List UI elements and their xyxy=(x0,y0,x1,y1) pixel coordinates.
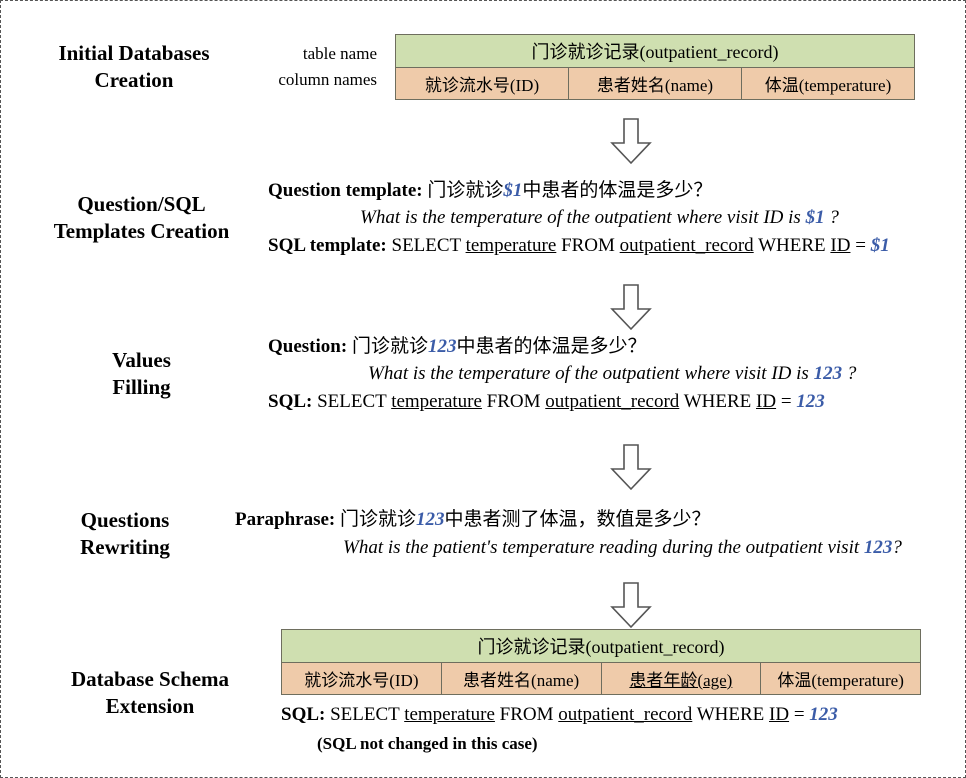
sql-where-keyword: WHERE xyxy=(684,391,752,412)
schema-table-extended: 门诊就诊记录(outpatient_record) 就诊流水号(ID) 患者姓名… xyxy=(281,629,921,695)
sql-label: SQL: xyxy=(268,391,312,412)
stage-values-filling: Values Filling Question: 门诊就诊123中患者的体温是多… xyxy=(19,329,949,419)
stage-label-question-sql-templates-creation: Question/SQL Templates Creation xyxy=(19,191,264,246)
stage-label-initial-databases-creation: Initial Databases Creation xyxy=(19,40,249,95)
stage-questions-rewriting: Questions Rewriting Paraphrase: 门诊就诊123中… xyxy=(19,499,949,569)
column-cell-name: 患者姓名(name) xyxy=(441,662,601,694)
sql-value: 123 xyxy=(796,391,825,412)
question-en-value: 123 xyxy=(814,363,843,384)
sql-key-ref: ID xyxy=(769,704,789,725)
column-cell-id: 就诊流水号(ID) xyxy=(396,68,569,100)
paraphrase-zh-post: 中患者测了体温，数值是多少？ xyxy=(445,509,711,530)
down-arrow-icon-4 xyxy=(609,581,653,634)
question-template-zh-pre: 门诊就诊 xyxy=(427,180,503,201)
column-cell-temperature: 体温(temperature) xyxy=(742,68,915,100)
question-template-label: Question template: xyxy=(268,180,423,201)
values-filling-text-block: Question: 门诊就诊123中患者的体温是多少？ What is the … xyxy=(268,333,856,416)
sql-where-keyword: WHERE xyxy=(697,704,765,725)
column-cell-temperature: 体温(temperature) xyxy=(761,662,921,694)
sql-select-keyword: SELECT xyxy=(317,391,386,412)
sql-column-ref: temperature xyxy=(391,391,482,412)
sql-line: SQL: SELECT temperature FROM outpatient_… xyxy=(281,701,921,729)
column-cell-age: 患者年龄(age) xyxy=(601,662,761,694)
sql-table-ref: outpatient_record xyxy=(558,704,692,725)
sql-column-ref: temperature xyxy=(404,704,495,725)
question-template-line: Question template: 门诊就诊$1中患者的体温是多少？ xyxy=(268,177,890,205)
stage-initial-databases-creation: Initial Databases Creation table name co… xyxy=(19,31,949,103)
sql-template-value: $1 xyxy=(871,235,890,256)
table-columns-row: 就诊流水号(ID) 患者姓名(name) 体温(temperature) xyxy=(396,68,915,100)
sql-from-keyword: FROM xyxy=(500,704,554,725)
table-name-cell: 门诊就诊记录(outpatient_record) xyxy=(282,629,921,662)
sql-column-ref: temperature xyxy=(466,235,557,256)
paraphrase-en-post: ? xyxy=(892,537,902,558)
sql-key-ref: ID xyxy=(756,391,776,412)
sql-template-label: SQL template: xyxy=(268,235,387,256)
question-template-en-post: ? xyxy=(825,207,839,228)
rewriting-text-block: Paraphrase: 门诊就诊123中患者测了体温，数值是多少？ What i… xyxy=(235,506,902,561)
sql-equals: = xyxy=(794,704,805,725)
sql-from-keyword: FROM xyxy=(487,391,541,412)
extension-sql-block: SQL: SELECT temperature FROM outpatient_… xyxy=(281,701,921,757)
question-label: Question: xyxy=(268,336,347,357)
question-en-post: ? xyxy=(842,363,856,384)
paraphrase-en-line: What is the patient's temperature readin… xyxy=(235,534,902,562)
paraphrase-en-pre: What is the patient's temperature readin… xyxy=(343,537,864,558)
question-zh-pre: 门诊就诊 xyxy=(352,336,428,357)
question-line: Question: 门诊就诊123中患者的体温是多少？ xyxy=(268,333,856,361)
pipeline-diagram: Initial Databases Creation table name co… xyxy=(0,0,966,778)
question-template-en-value: $1 xyxy=(806,207,825,228)
paraphrase-zh-pre: 门诊就诊 xyxy=(340,509,416,530)
sql-unchanged-note: (SQL not changed in this case) xyxy=(281,732,921,757)
column-cell-name: 患者姓名(name) xyxy=(569,68,742,100)
table-name-row: 门诊就诊记录(outpatient_record) xyxy=(396,35,915,68)
sql-equals: = xyxy=(855,235,866,256)
question-en-line: What is the temperature of the outpatien… xyxy=(268,360,856,388)
down-arrow-glyph-1 xyxy=(609,117,653,165)
templates-text-block: Question template: 门诊就诊$1中患者的体温是多少？ What… xyxy=(268,177,890,260)
question-template-en-line: What is the temperature of the outpatien… xyxy=(268,204,890,232)
sql-equals: = xyxy=(781,391,792,412)
sql-where-keyword: WHERE xyxy=(758,235,826,256)
stage-question-sql-templates-creation: Question/SQL Templates Creation Question… xyxy=(19,173,949,263)
table-name-cell: 门诊就诊记录(outpatient_record) xyxy=(396,35,915,68)
column-cell-id: 就诊流水号(ID) xyxy=(282,662,442,694)
sql-select-keyword: SELECT xyxy=(330,704,399,725)
down-arrow-glyph-3 xyxy=(609,443,653,491)
question-en-pre: What is the temperature of the outpatien… xyxy=(368,363,814,384)
sql-select-keyword: SELECT xyxy=(392,235,461,256)
paraphrase-en-value: 123 xyxy=(864,537,893,558)
schema-table-initial: 门诊就诊记录(outpatient_record) 就诊流水号(ID) 患者姓名… xyxy=(395,34,915,100)
down-arrow-glyph-4 xyxy=(609,581,653,629)
table-columns-row: 就诊流水号(ID) 患者姓名(name) 患者年龄(age) 体温(temper… xyxy=(282,662,921,694)
down-arrow-glyph-2 xyxy=(609,283,653,331)
down-arrow-icon-3 xyxy=(609,443,653,496)
paraphrase-value: 123 xyxy=(416,509,445,530)
table-side-notes: table name column names xyxy=(257,41,377,94)
table-name-row: 门诊就诊记录(outpatient_record) xyxy=(282,629,921,662)
stage-label-questions-rewriting: Questions Rewriting xyxy=(19,507,231,562)
question-zh-post: 中患者的体温是多少？ xyxy=(456,336,646,357)
question-template-en-pre: What is the temperature of the outpatien… xyxy=(360,207,806,228)
question-value: 123 xyxy=(428,336,457,357)
schema-extension-content: 门诊就诊记录(outpatient_record) 就诊流水号(ID) 患者姓名… xyxy=(281,629,921,757)
down-arrow-icon-1 xyxy=(609,117,653,170)
paraphrase-line: Paraphrase: 门诊就诊123中患者测了体温，数值是多少？ xyxy=(235,506,902,534)
sql-line: SQL: SELECT temperature FROM outpatient_… xyxy=(268,388,856,416)
column-cell-age-text: 患者年龄(age) xyxy=(629,671,732,690)
sql-template-line: SQL template: SELECT temperature FROM ou… xyxy=(268,232,890,260)
sql-from-keyword: FROM xyxy=(561,235,615,256)
sql-key-ref: ID xyxy=(830,235,850,256)
sql-value: 123 xyxy=(809,704,838,725)
sql-table-ref: outpatient_record xyxy=(620,235,754,256)
sql-table-ref: outpatient_record xyxy=(545,391,679,412)
sql-label: SQL: xyxy=(281,704,325,725)
stage-database-schema-extension: Database Schema Extension 门诊就诊记录(outpati… xyxy=(19,633,949,753)
stage-label-values-filling: Values Filling xyxy=(19,347,264,402)
paraphrase-label: Paraphrase: xyxy=(235,509,335,530)
stage-label-database-schema-extension: Database Schema Extension xyxy=(19,666,281,721)
question-template-value: $1 xyxy=(503,180,522,201)
question-template-zh-post: 中患者的体温是多少？ xyxy=(522,180,712,201)
